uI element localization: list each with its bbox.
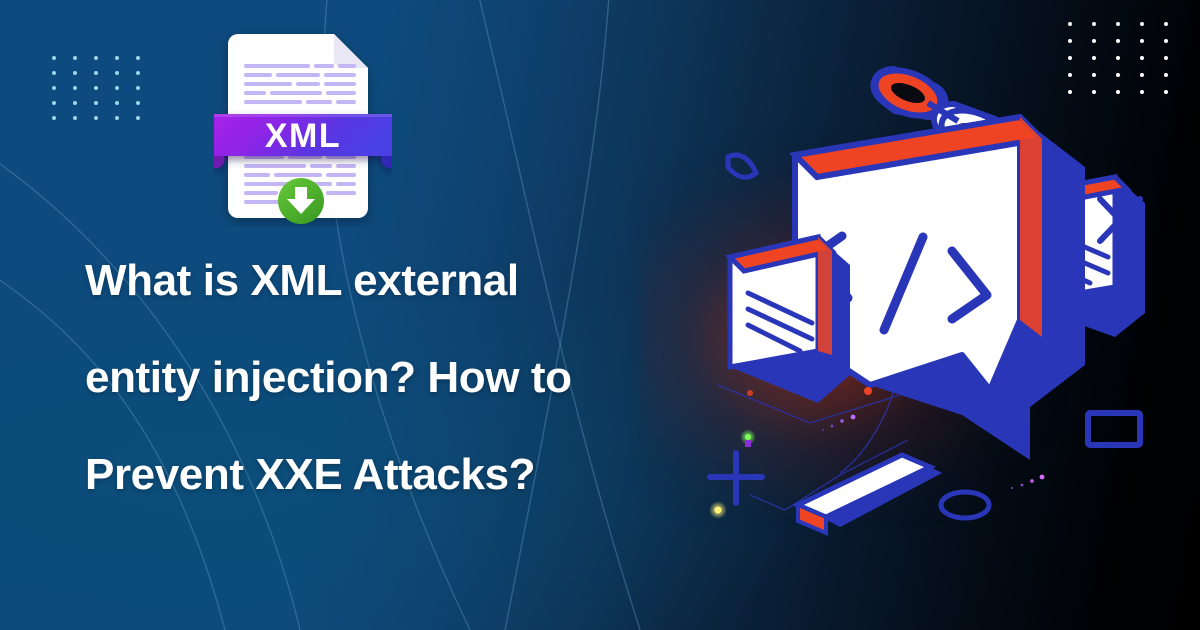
bottom-bar-panel	[798, 455, 942, 533]
grid-dot	[73, 101, 77, 105]
grid-dot	[136, 86, 140, 90]
dot-grid-left	[52, 56, 140, 120]
grid-dot	[94, 56, 98, 60]
grid-dot	[73, 116, 77, 120]
grid-dot	[1164, 39, 1168, 43]
grid-dot	[1140, 22, 1144, 26]
plus-outline	[710, 453, 762, 503]
grid-dot	[1164, 22, 1168, 26]
grid-dot	[1068, 22, 1072, 26]
grid-dot	[94, 71, 98, 75]
headline-line-2: entity injection? How to	[85, 329, 685, 426]
grid-dot	[73, 86, 77, 90]
grid-dot	[1116, 22, 1120, 26]
grid-dot	[73, 71, 77, 75]
headline-line-1: What is XML external	[85, 232, 685, 329]
grid-dot	[136, 56, 140, 60]
hero-banner: XML	[0, 0, 1200, 630]
grid-dot	[1140, 39, 1144, 43]
grid-dot	[115, 56, 119, 60]
grid-dot	[115, 101, 119, 105]
grid-dot	[94, 86, 98, 90]
grid-dot	[136, 101, 140, 105]
isometric-code-illustration	[690, 55, 1190, 565]
grid-dot	[115, 86, 119, 90]
xml-file-icon: XML	[214, 22, 392, 227]
grid-dot	[94, 101, 98, 105]
page-title: What is XML external entity injection? H…	[85, 232, 685, 523]
grid-dot	[52, 116, 56, 120]
grid-dot	[115, 116, 119, 120]
grid-dot	[52, 101, 56, 105]
grid-dot	[136, 71, 140, 75]
grid-dot	[1116, 39, 1120, 43]
grid-dot	[73, 56, 77, 60]
grid-dot	[1092, 39, 1096, 43]
left-card-panel	[730, 237, 850, 403]
grid-dot	[1092, 22, 1096, 26]
ellipse-ring-outline	[941, 492, 989, 518]
grid-dot	[52, 71, 56, 75]
download-arrow-icon	[278, 178, 324, 224]
headline-line-3: Prevent XXE Attacks?	[85, 426, 685, 523]
diamond-outline	[728, 155, 756, 177]
rectangle-outline	[1088, 413, 1140, 445]
grid-dot	[1068, 39, 1072, 43]
grid-dot	[52, 86, 56, 90]
xml-label: XML	[265, 117, 341, 155]
grid-dot	[136, 116, 140, 120]
grid-dot	[52, 56, 56, 60]
grid-dot	[94, 116, 98, 120]
grid-dot	[115, 71, 119, 75]
